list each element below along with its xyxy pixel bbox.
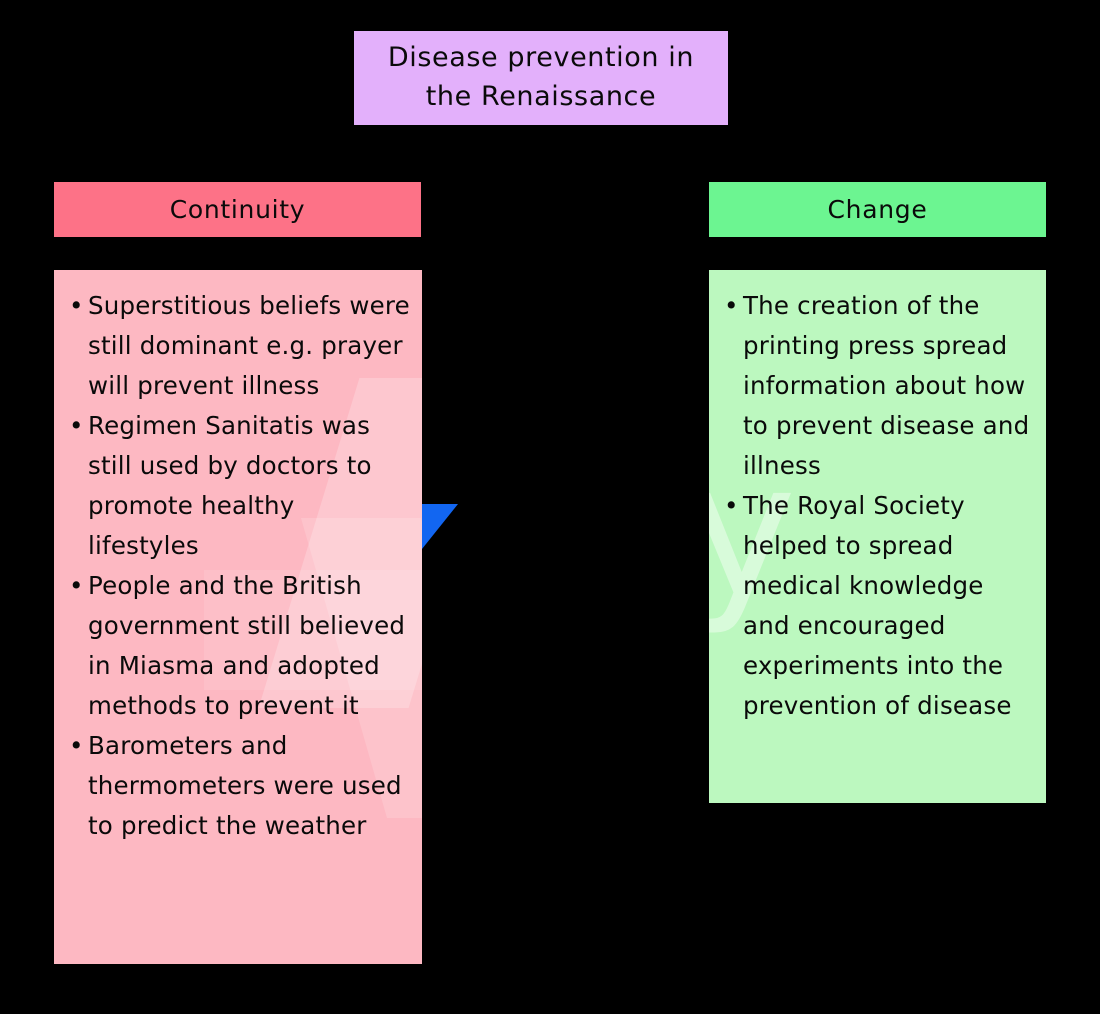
bullet-dot-icon: • [69,406,84,446]
panel-continuity: •Superstitious beliefs were still domina… [54,270,422,964]
bullet-dot-icon: • [69,566,84,606]
list-item: •The creation of the printing press spre… [723,286,1034,486]
diagram-title-box: Disease prevention in the Renaissance [354,31,728,125]
list-item: •Barometers and thermometers were used t… [68,726,410,846]
panel-change: y •The creation of the printing press sp… [709,270,1046,803]
diagram-title-line-2: the Renaissance [426,81,656,112]
column-header-change-label: Change [828,195,928,224]
list-item: •The Royal Society helped to spread medi… [723,486,1034,726]
bullet-list-continuity: •Superstitious beliefs were still domina… [54,270,422,858]
bullet-dot-icon: • [69,726,84,766]
bullet-dot-icon: • [724,286,739,326]
diagram-title-line-1: Disease prevention in [388,42,694,73]
diagram-title-text: Disease prevention in the Renaissance [388,39,694,117]
list-item: •Superstitious beliefs were still domina… [68,286,410,406]
list-item: •Regimen Sanitatis was still used by doc… [68,406,410,566]
bullet-dot-icon: • [69,286,84,326]
bullet-dot-icon: • [724,486,739,526]
list-item-text: Regimen Sanitatis was still used by doct… [88,411,372,560]
list-item-text: The Royal Society helped to spread medic… [743,491,1012,720]
list-item-text: Superstitious beliefs were still dominan… [88,291,410,400]
list-item-text: The creation of the printing press sprea… [743,291,1029,480]
column-header-continuity-label: Continuity [170,195,306,224]
list-item-text: People and the British government still … [88,571,405,720]
list-item-text: Barometers and thermometers were used to… [88,731,402,840]
list-item: •People and the British government still… [68,566,410,726]
column-header-continuity: Continuity [54,182,421,237]
diagram-canvas: Disease prevention in the Renaissance Co… [0,0,1100,1014]
column-header-change: Change [709,182,1046,237]
center-triangle-icon [422,504,458,549]
bullet-list-change: •The creation of the printing press spre… [709,270,1046,738]
